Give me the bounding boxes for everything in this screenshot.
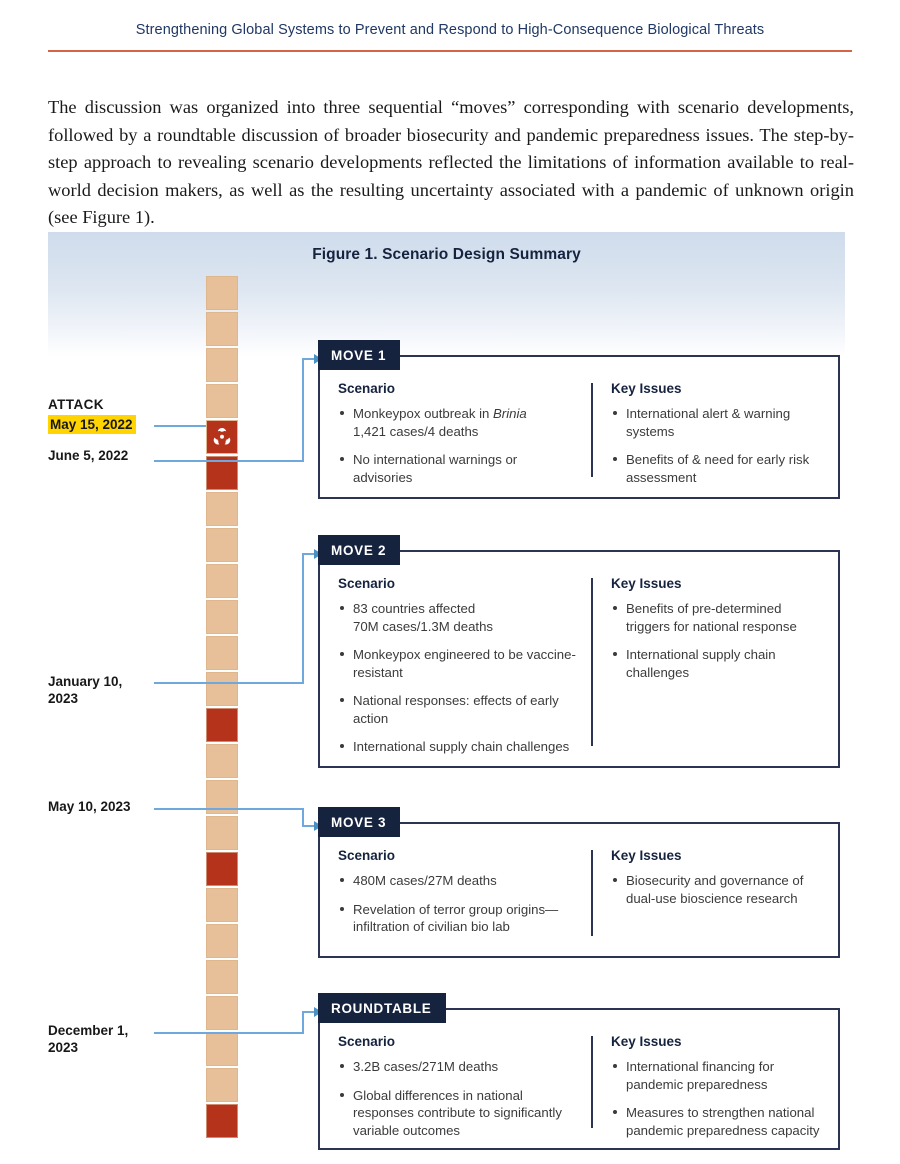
scenario-heading: Scenario bbox=[338, 381, 577, 396]
list-item: National responses: effects of early act… bbox=[338, 692, 577, 727]
list-item: International supply chain challenges bbox=[338, 738, 577, 756]
date-label-move2: January 10, 2023 bbox=[48, 673, 122, 707]
timeline-segment bbox=[206, 816, 238, 850]
figure-scenario-design-summary: Figure 1. Scenario Design Summary bbox=[48, 232, 852, 1152]
connector-roundtable-v bbox=[302, 1011, 304, 1034]
move-box-roundtable[interactable]: ROUNDTABLE Scenario 3.2B cases/271M deat… bbox=[318, 1008, 840, 1150]
connector-move3-v bbox=[302, 808, 304, 825]
list-item: Benefits of & need for early risk assess… bbox=[611, 451, 822, 486]
timeline-column bbox=[206, 276, 238, 1140]
move-2-body: Scenario 83 countries affected70M cases/… bbox=[320, 552, 838, 766]
roundtable-issues-column: Key Issues International financing for p… bbox=[611, 1034, 822, 1134]
date-label-move1: June 5, 2022 bbox=[48, 447, 128, 464]
list-item: Benefits of pre-determined triggers for … bbox=[611, 600, 822, 635]
connector-move2-h1 bbox=[238, 682, 304, 684]
column-divider bbox=[591, 1036, 593, 1128]
move-box-1[interactable]: MOVE 1 Scenario Monkeypox outbreak in Br… bbox=[318, 355, 840, 499]
key-issues-heading: Key Issues bbox=[611, 1034, 822, 1049]
list-item: Global differences in national responses… bbox=[338, 1087, 577, 1140]
timeline-segment bbox=[206, 528, 238, 562]
move-2-scenario-list: 83 countries affected70M cases/1.3M deat… bbox=[338, 600, 577, 756]
figure-title: Figure 1. Scenario Design Summary bbox=[48, 246, 845, 264]
key-issues-heading: Key Issues bbox=[611, 381, 822, 396]
key-issues-heading: Key Issues bbox=[611, 848, 822, 863]
list-item: 3.2B cases/271M deaths bbox=[338, 1058, 577, 1076]
roundtable-issues-list: International financing for pandemic pre… bbox=[611, 1058, 822, 1139]
column-divider bbox=[591, 578, 593, 746]
scenario-heading: Scenario bbox=[338, 1034, 577, 1049]
timeline-segment bbox=[206, 276, 238, 310]
move-1-header: MOVE 1 bbox=[318, 340, 400, 370]
list-item: Measures to strengthen national pandemic… bbox=[611, 1104, 822, 1139]
move-1-issues-list: International alert & warning systems Be… bbox=[611, 405, 822, 486]
list-item: International financing for pandemic pre… bbox=[611, 1058, 822, 1093]
scenario-heading: Scenario bbox=[338, 848, 577, 863]
timeline-segment bbox=[206, 636, 238, 670]
running-head: Strengthening Global Systems to Prevent … bbox=[48, 22, 852, 38]
date-label-move3: May 10, 2023 bbox=[48, 798, 131, 815]
scenario-heading: Scenario bbox=[338, 576, 577, 591]
list-item: 480M cases/27M deaths bbox=[338, 872, 577, 890]
roundtable-body: Scenario 3.2B cases/271M deaths Global d… bbox=[320, 1010, 838, 1148]
timeline-segment bbox=[206, 924, 238, 958]
connector-move1-stub bbox=[154, 460, 238, 462]
list-item: Biosecurity and governance of dual-use b… bbox=[611, 872, 822, 907]
move-2-header: MOVE 2 bbox=[318, 535, 400, 565]
timeline-segment bbox=[206, 888, 238, 922]
key-issues-heading: Key Issues bbox=[611, 576, 822, 591]
move-2-scenario-column: Scenario 83 countries affected70M cases/… bbox=[338, 576, 591, 752]
timeline-marker-roundtable[interactable] bbox=[206, 1104, 238, 1138]
connector-roundtable-h1 bbox=[238, 1032, 304, 1034]
roundtable-header: ROUNDTABLE bbox=[318, 993, 446, 1023]
connector-move1-v bbox=[302, 358, 304, 462]
move-2-issues-list: Benefits of pre-determined triggers for … bbox=[611, 600, 822, 681]
list-item: No international warnings or advisories bbox=[338, 451, 577, 486]
connector-move2-v bbox=[302, 553, 304, 684]
move-box-3[interactable]: MOVE 3 Scenario 480M cases/27M deaths Re… bbox=[318, 822, 840, 958]
timeline-segment bbox=[206, 384, 238, 418]
timeline-segment bbox=[206, 960, 238, 994]
move-3-header: MOVE 3 bbox=[318, 807, 400, 837]
timeline-marker-move3[interactable] bbox=[206, 852, 238, 886]
move-1-body: Scenario Monkeypox outbreak in Brinia1,4… bbox=[320, 357, 838, 497]
connector-move2-stub bbox=[154, 682, 238, 684]
move-3-issues-column: Key Issues Biosecurity and governance of… bbox=[611, 848, 822, 942]
date-label-attack-wrap: May 15, 2022 bbox=[48, 415, 136, 434]
connector-attack bbox=[154, 425, 206, 427]
timeline-segment bbox=[206, 312, 238, 346]
move-3-scenario-list: 480M cases/27M deaths Revelation of terr… bbox=[338, 872, 577, 936]
move-3-issues-list: Biosecurity and governance of dual-use b… bbox=[611, 872, 822, 907]
column-divider bbox=[591, 383, 593, 477]
list-item: Monkeypox outbreak in Brinia1,421 cases/… bbox=[338, 405, 577, 440]
timeline-segment bbox=[206, 600, 238, 634]
move-box-2[interactable]: MOVE 2 Scenario 83 countries affected70M… bbox=[318, 550, 840, 768]
column-divider bbox=[591, 850, 593, 936]
list-item: International supply chain challenges bbox=[611, 646, 822, 681]
attack-label: ATTACK bbox=[48, 396, 104, 413]
body-paragraph: The discussion was organized into three … bbox=[48, 94, 854, 232]
timeline-segment bbox=[206, 1068, 238, 1102]
connector-move1-h1 bbox=[238, 460, 304, 462]
move-3-body: Scenario 480M cases/27M deaths Revelatio… bbox=[320, 824, 838, 956]
list-item: 83 countries affected70M cases/1.3M deat… bbox=[338, 600, 577, 635]
list-item: Monkeypox engineered to be vaccine-resis… bbox=[338, 646, 577, 681]
timeline-segment bbox=[206, 492, 238, 526]
biohazard-icon bbox=[212, 427, 232, 447]
timeline-marker-move2[interactable] bbox=[206, 708, 238, 742]
timeline-segment bbox=[206, 1032, 238, 1066]
list-item: Revelation of terror group origins—infil… bbox=[338, 901, 577, 936]
move-1-scenario-list: Monkeypox outbreak in Brinia1,421 cases/… bbox=[338, 405, 577, 486]
roundtable-scenario-column: Scenario 3.2B cases/271M deaths Global d… bbox=[338, 1034, 591, 1134]
timeline-segment bbox=[206, 744, 238, 778]
timeline-segment bbox=[206, 996, 238, 1030]
move-1-issues-column: Key Issues International alert & warning… bbox=[611, 381, 822, 483]
date-label-roundtable: December 1, 2023 bbox=[48, 1022, 128, 1056]
date-label-attack: May 15, 2022 bbox=[48, 415, 136, 434]
move-2-issues-column: Key Issues Benefits of pre-determined tr… bbox=[611, 576, 822, 752]
connector-move3-stub bbox=[154, 808, 238, 810]
move-1-scenario-column: Scenario Monkeypox outbreak in Brinia1,4… bbox=[338, 381, 591, 483]
move-3-scenario-column: Scenario 480M cases/27M deaths Revelatio… bbox=[338, 848, 591, 942]
roundtable-scenario-list: 3.2B cases/271M deaths Global difference… bbox=[338, 1058, 577, 1139]
connector-roundtable-stub bbox=[154, 1032, 238, 1034]
header-rule bbox=[48, 50, 852, 52]
connector-move3-h1 bbox=[238, 808, 304, 810]
timeline-marker-attack[interactable] bbox=[206, 420, 238, 454]
list-item: International alert & warning systems bbox=[611, 405, 822, 440]
timeline-segment bbox=[206, 672, 238, 706]
timeline-segment bbox=[206, 564, 238, 598]
timeline-segment bbox=[206, 348, 238, 382]
